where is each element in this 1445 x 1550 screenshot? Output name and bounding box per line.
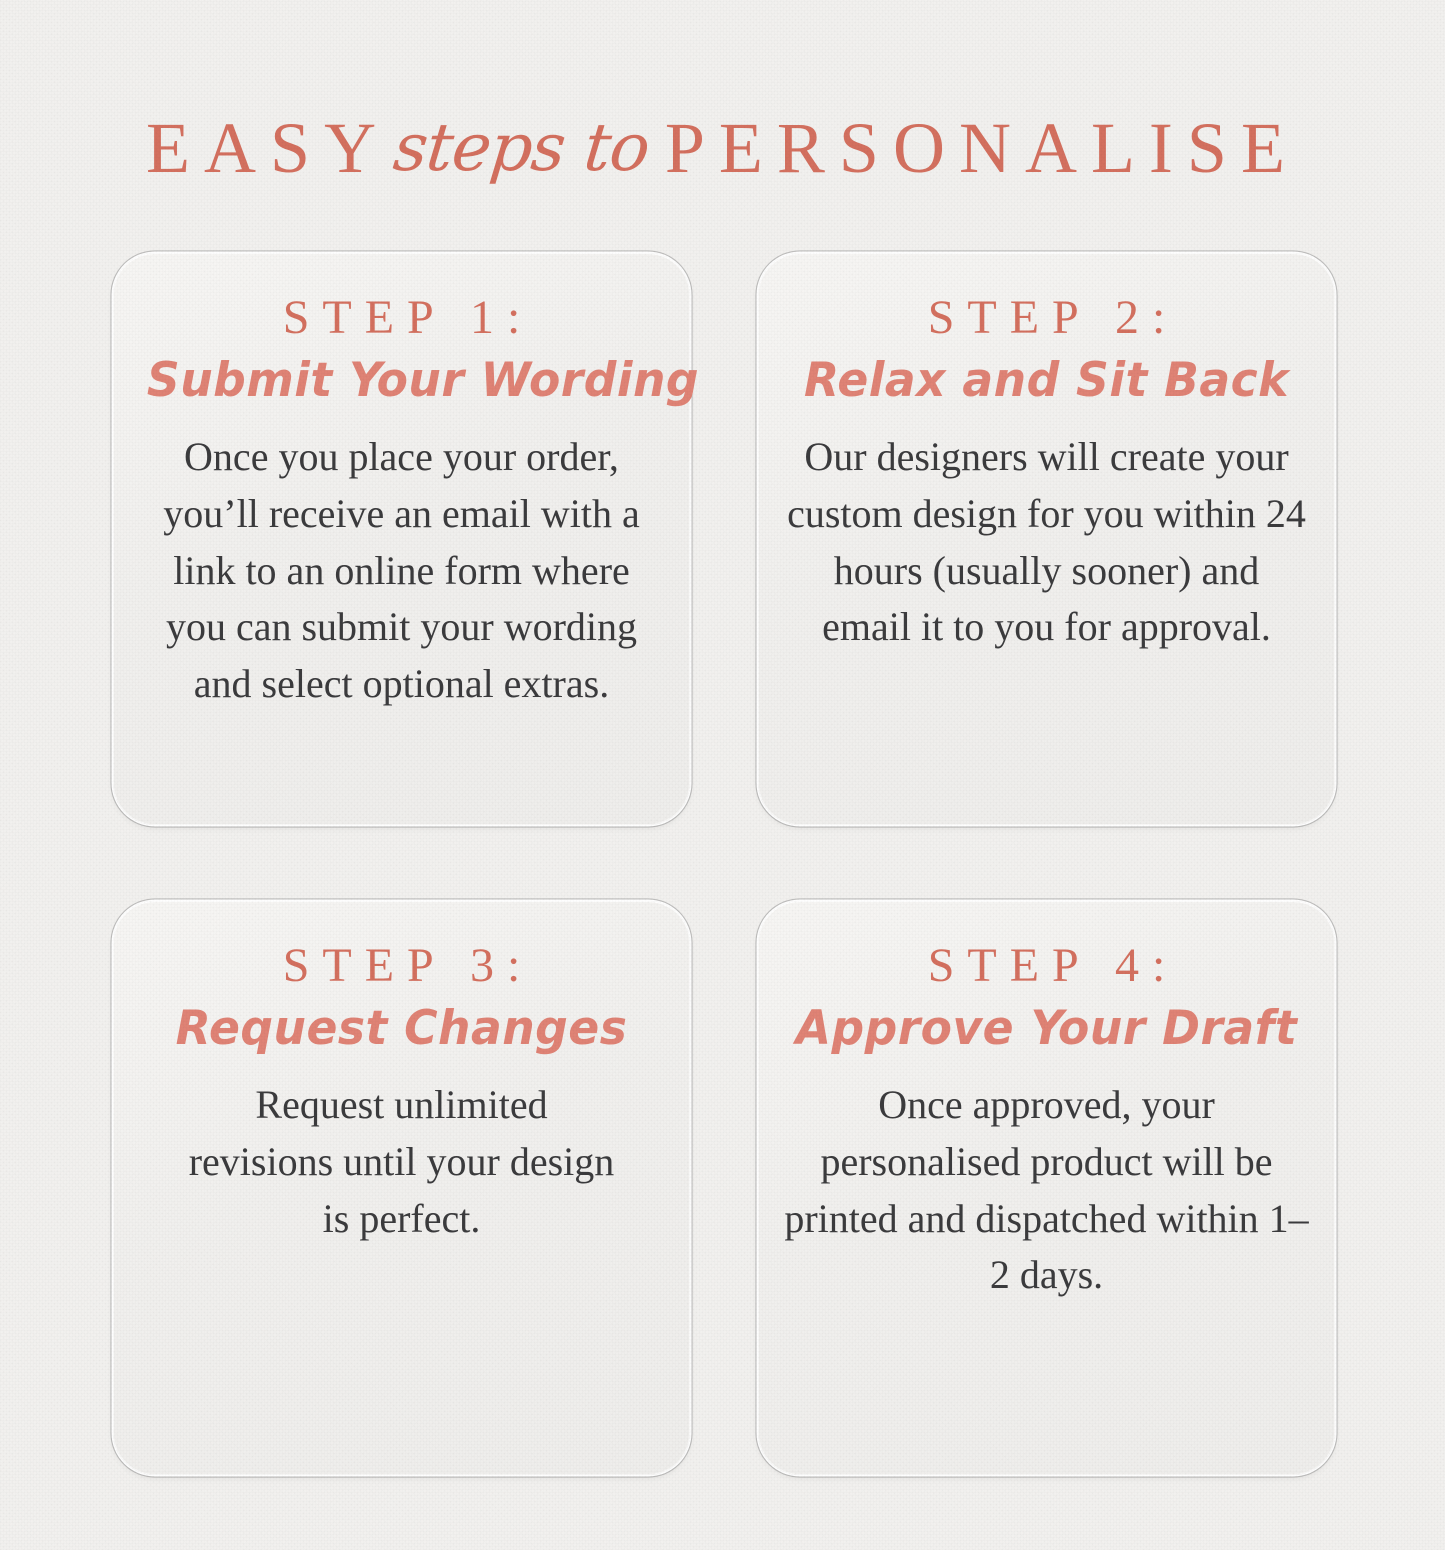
step-label-3: STEP 3: — [139, 941, 664, 991]
page-title-part2: PERSONALISE — [665, 108, 1299, 188]
step-card-3: STEP 3: Request Changes Request unlimite… — [113, 901, 690, 1475]
step-title-3: Request Changes — [147, 1003, 656, 1055]
step-label-2: STEP 2: — [784, 293, 1309, 343]
step-label-4: STEP 4: — [784, 941, 1309, 991]
step-card-2: STEP 2: Relax and Sit Back Our designers… — [758, 253, 1335, 825]
step-body-2: Our designers will create your custom de… — [785, 429, 1309, 656]
infographic-page: EASYsteps toPERSONALISE STEP 1: Submit Y… — [0, 0, 1445, 1550]
step-body-4: Once approved, your personalised product… — [784, 1077, 1309, 1304]
step-title-4: Approve Your Draft — [792, 1003, 1301, 1055]
step-title-2: Relax and Sit Back — [792, 355, 1301, 407]
step-label-1: STEP 1: — [139, 293, 664, 343]
step-body-3: Request unlimited revisions until your d… — [187, 1077, 617, 1247]
step-card-4: STEP 4: Approve Your Draft Once approved… — [758, 901, 1335, 1475]
steps-grid: STEP 1: Submit Your Wording Once you pla… — [113, 253, 1335, 1475]
step-card-1: STEP 1: Submit Your Wording Once you pla… — [113, 253, 690, 825]
step-body-1: Once you place your order, you’ll receiv… — [140, 429, 664, 713]
page-title: EASYsteps toPERSONALISE — [0, 112, 1445, 184]
page-title-part1: EASY — [146, 108, 390, 188]
page-title-script: steps to — [391, 115, 653, 181]
step-title-1: Submit Your Wording — [147, 355, 656, 407]
